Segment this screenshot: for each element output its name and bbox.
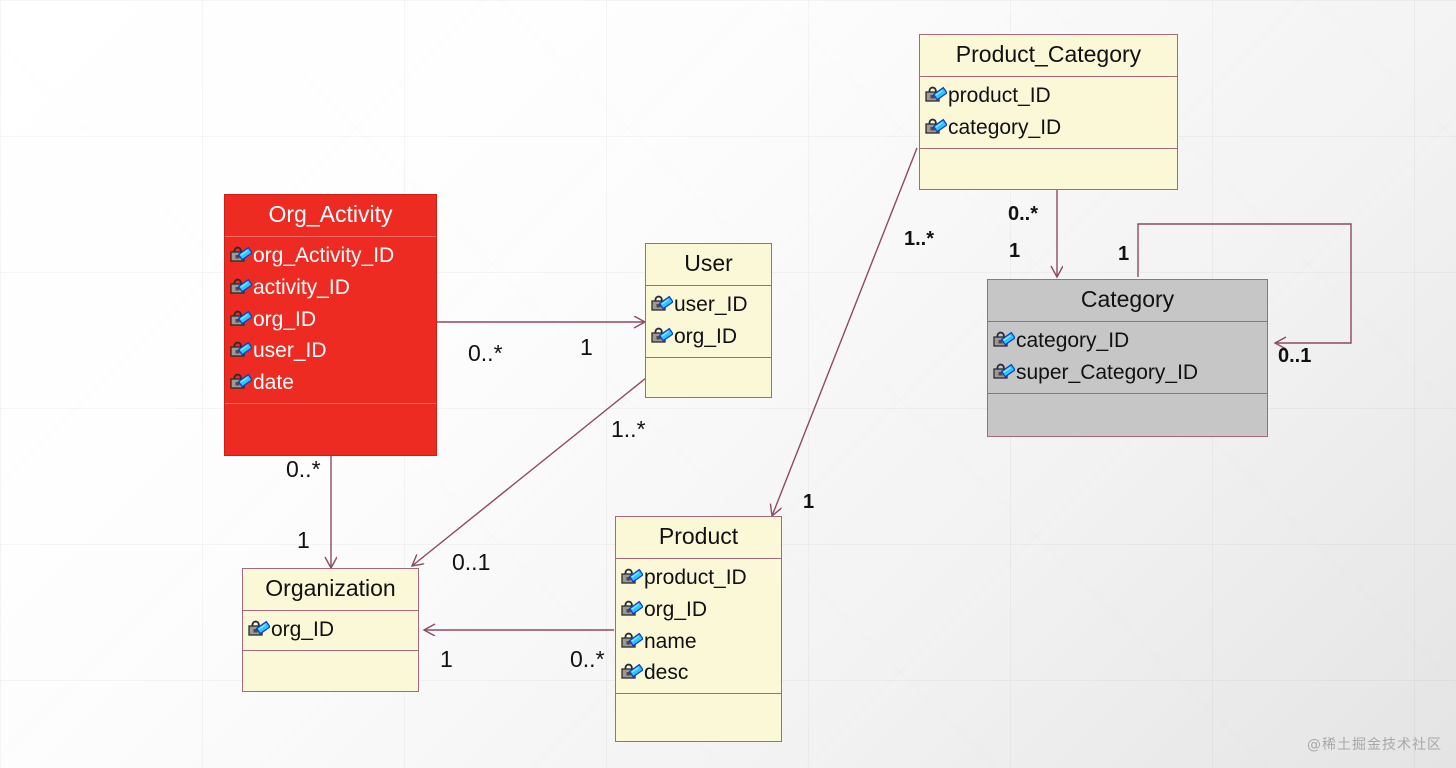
multiplicity-productcategory-product-source: 1..* [904, 228, 934, 251]
multiplicity-productcategory-category-target: 1 [1009, 240, 1020, 263]
attribute-row: product_ID [925, 80, 1173, 112]
class-operations [225, 404, 436, 430]
class-attributes: category_ID super_Category_ID [988, 322, 1267, 394]
class-operations [920, 149, 1177, 175]
attribute-row: date [230, 367, 432, 399]
attribute-row: org_ID [248, 614, 414, 646]
diagram-canvas: 0..* 1 0..* 1 1..* 0..1 0..* 1 1..* 1 0.… [0, 0, 1456, 768]
class-operations [243, 651, 418, 677]
attribute-label: user_ID [253, 335, 327, 367]
key-lock-icon [621, 632, 643, 652]
multiplicity-category-self-target: 0..1 [1278, 345, 1311, 368]
class-title: Product [616, 517, 781, 559]
class-box-product-category[interactable]: Product_Category product_ID [919, 34, 1178, 190]
class-title: Organization [243, 569, 418, 611]
attribute-label: org_ID [644, 594, 707, 626]
attribute-label: user_ID [674, 289, 748, 321]
class-title: Product_Category [920, 35, 1177, 77]
multiplicity-productcategory-category-source: 0..* [1008, 203, 1038, 226]
attribute-row: product_ID [621, 562, 777, 594]
attribute-row: org_ID [651, 321, 767, 353]
key-lock-icon [925, 86, 947, 106]
key-lock-icon [230, 310, 252, 330]
attribute-row: org_ID [230, 304, 432, 336]
attribute-row: desc [621, 657, 777, 689]
multiplicity-orgactivity-user-target: 1 [580, 334, 593, 361]
attribute-label: org_ID [674, 321, 737, 353]
attribute-row: name [621, 626, 777, 658]
attribute-row: user_ID [651, 289, 767, 321]
key-lock-icon [651, 327, 673, 347]
class-box-product[interactable]: Product product_ID [615, 516, 782, 742]
multiplicity-user-org-target: 0..1 [452, 549, 490, 576]
multiplicity-orgactivity-user-source: 0..* [468, 340, 503, 367]
key-lock-icon [621, 663, 643, 683]
multiplicity-productcategory-product-target: 1 [803, 491, 814, 514]
attribute-label: product_ID [948, 80, 1051, 112]
attribute-row: org_Activity_ID [230, 240, 432, 272]
attribute-row: activity_ID [230, 272, 432, 304]
class-attributes: org_Activity_ID activity_ID [225, 237, 436, 405]
class-operations [988, 394, 1267, 420]
class-box-category[interactable]: Category category_ID [987, 279, 1268, 437]
multiplicity-user-org-source: 1..* [611, 416, 646, 443]
attribute-row: category_ID [993, 325, 1263, 357]
multiplicity-orgactivity-org-target: 1 [297, 527, 310, 554]
key-lock-icon [993, 363, 1015, 383]
class-attributes: product_ID org_ID [616, 559, 781, 695]
key-lock-icon [230, 278, 252, 298]
multiplicity-product-org-target: 1 [440, 646, 453, 673]
multiplicity-orgactivity-org-source: 0..* [286, 456, 321, 483]
attribute-label: product_ID [644, 562, 747, 594]
class-attributes: user_ID org_ID [646, 286, 771, 358]
class-attributes: product_ID category_ID [920, 77, 1177, 149]
connector-user-organization [412, 378, 646, 566]
attribute-label: date [253, 367, 294, 399]
key-lock-icon [651, 295, 673, 315]
attribute-row: super_Category_ID [993, 357, 1263, 389]
class-operations [646, 358, 771, 384]
connector-productcategory-product [772, 148, 917, 516]
attribute-row: user_ID [230, 335, 432, 367]
key-lock-icon [993, 331, 1015, 351]
attribute-label: name [644, 626, 697, 658]
class-box-organization[interactable]: Organization org_ID [242, 568, 419, 692]
attribute-label: desc [644, 657, 688, 689]
attribute-label: category_ID [1016, 325, 1129, 357]
key-lock-icon [925, 118, 947, 138]
multiplicity-category-self-source: 1 [1118, 243, 1129, 266]
class-attributes: org_ID [243, 611, 418, 651]
class-title: User [646, 244, 771, 286]
key-lock-icon [230, 246, 252, 266]
attribute-label: org_Activity_ID [253, 240, 394, 272]
attribute-label: super_Category_ID [1016, 357, 1198, 389]
key-lock-icon [621, 600, 643, 620]
attribute-label: org_ID [271, 614, 334, 646]
key-lock-icon [230, 373, 252, 393]
attribute-label: category_ID [948, 112, 1061, 144]
key-lock-icon [248, 620, 270, 640]
key-lock-icon [621, 568, 643, 588]
class-box-org-activity[interactable]: Org_Activity org_Activity_ID [224, 194, 437, 456]
class-operations [616, 694, 781, 720]
attribute-row: category_ID [925, 112, 1173, 144]
class-title: Category [988, 280, 1267, 322]
attribute-label: org_ID [253, 304, 316, 336]
key-lock-icon [230, 341, 252, 361]
attribute-label: activity_ID [253, 272, 350, 304]
class-box-user[interactable]: User user_ID [645, 243, 772, 398]
class-title: Org_Activity [225, 195, 436, 237]
multiplicity-product-org-source: 0..* [570, 646, 605, 673]
watermark: @稀土掘金技术社区 [1307, 734, 1442, 754]
attribute-row: org_ID [621, 594, 777, 626]
